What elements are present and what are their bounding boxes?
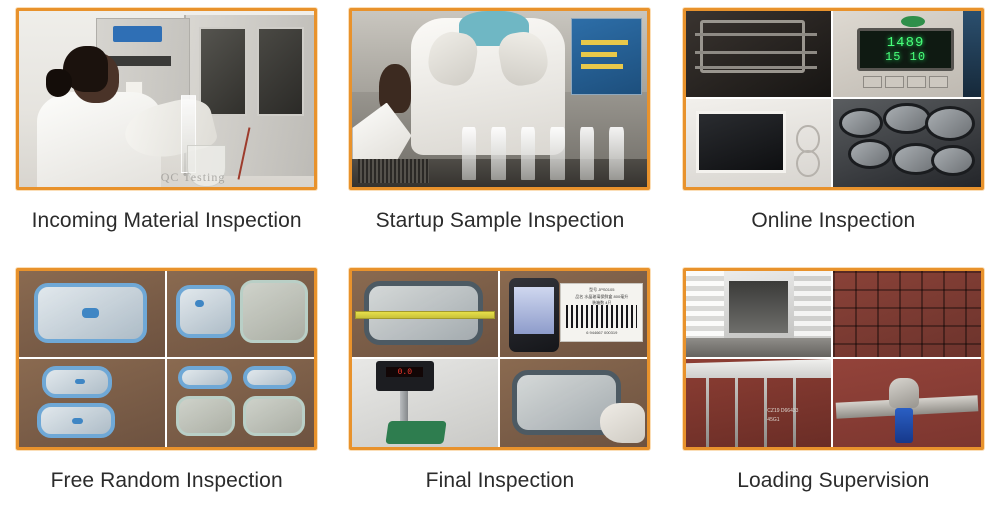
controller-button[interactable] [863,76,882,88]
hand-icon [600,403,644,443]
photo-startup-sample [352,11,647,187]
photo-frame[interactable] [349,8,650,190]
gallery-cell-incoming-material-inspection[interactable]: QC Testing Incoming Material Inspection [0,0,333,260]
gallery-cell-startup-sample-inspection[interactable]: Startup Sample Inspection [333,0,666,260]
photo-frame[interactable]: 1489 15 10 [683,8,984,190]
container-depth-icon [729,281,787,333]
cell-caption: Free Random Inspection [51,470,283,491]
security-seal-icon [895,408,913,443]
gallery-cell-loading-supervision[interactable]: CZ19 D66433 45G1 Loading Supervision [667,260,1000,520]
fridge-panel-icon [113,26,161,42]
cell-caption: Incoming Material Inspection [32,210,302,231]
machine-edge-icon [963,11,981,97]
lid-clip-icon [72,418,83,425]
controller-display: 1489 15 10 [857,28,954,71]
glass-lid-icon [848,139,892,169]
photo-container-exterior: CZ19 D66433 45G1 [686,359,834,447]
photo-two-stacked-containers [19,359,167,447]
label-line-1: 型号 JPS0105 [561,287,642,293]
photo-container-handling [500,359,648,447]
product-label: 型号 JPS0105 品名 水晶玻璃保鲜盒 800毫升 装箱数 4只 6 944… [560,283,643,341]
controller-button[interactable] [885,76,904,88]
glass-bowl-icon [176,396,235,436]
glass-lid-icon [931,145,975,177]
label-line-2: 品名 水晶玻璃保鲜盒 800毫升 [561,294,642,300]
cell-caption: Final Inspection [426,470,575,491]
photo-frame[interactable]: 型号 JPS0105 品名 水晶玻璃保鲜盒 800毫升 装箱数 4只 6 944… [349,268,650,450]
gallery-cell-final-inspection[interactable]: 型号 JPS0105 品名 水晶玻璃保鲜盒 800毫升 装箱数 4只 6 944… [333,260,666,520]
display-line-1: 1489 [887,36,925,51]
cell-caption: Online Inspection [751,210,915,231]
photo-digital-controller: 1489 15 10 [833,11,981,99]
glass-bottle-icon [550,127,565,180]
scale-head-icon: 0.0 [376,361,434,391]
container-lid-icon [34,283,147,343]
scale-plate-icon [386,421,447,444]
controller-buttons[interactable] [863,76,949,88]
cell-caption: Startup Sample Inspection [376,210,625,231]
photo-single-lid-closeup [19,271,167,359]
oven-rack-bar-icon [695,33,817,36]
photo-watermark: QC Testing [161,170,226,185]
photo-lid-and-glass-bowl [167,271,315,359]
lid-clip-icon [75,379,85,384]
photo-oven-rack [686,11,834,99]
barcode-number: 6 944667 000319 [561,330,642,335]
glass-bowl-icon [243,396,305,436]
container-rib-icon [706,378,709,447]
container-code-line-1: CZ19 D66433 [767,408,798,414]
oven-rack-bar-icon [695,51,817,54]
photo-frame[interactable]: CZ19 D66433 45G1 [683,268,984,450]
microwave-knob-icon [796,125,819,152]
photo-empty-container-interior [686,271,834,359]
controller-button[interactable] [907,76,926,88]
container-floor-icon [686,338,832,357]
glass-lid-icon [883,103,930,135]
scale-display: 0.0 [386,367,423,377]
glass-bowl-icon [240,280,308,344]
photo-barcode-scan: 型号 JPS0105 品名 水晶玻璃保鲜盒 800毫升 装箱数 4只 6 944… [500,271,648,359]
photo-glass-lids [833,99,981,187]
photo-four-container-set [167,359,315,447]
photo-frame[interactable]: QC Testing [16,8,317,190]
microwave-door-icon [696,111,786,173]
tape-measure-icon [355,311,495,320]
glass-bottle-icon [462,127,477,180]
photo-lab-technician: QC Testing [19,11,314,187]
photo-tape-measure-check [352,271,500,359]
glass-lid-icon [839,108,883,138]
container-lid-icon [42,366,112,398]
cell-caption: Loading Supervision [737,470,929,491]
photo-stacked-cartons [833,271,981,359]
container-code-line-2: 45G1 [767,417,779,423]
controller-button[interactable] [929,76,948,88]
glass-lid-icon [925,106,975,141]
barcode-scanner-icon [509,278,559,352]
photo-frame[interactable] [16,268,317,450]
display-line-2: 15 10 [885,51,926,64]
lid-clip-icon [82,308,99,318]
lid-clip-icon [195,300,204,307]
oven-rack-icon [700,20,805,73]
gallery-cell-online-inspection[interactable]: 1489 15 10 [667,0,1000,260]
container-lid-icon [178,366,231,389]
lock-icon [889,378,919,408]
inspection-gallery: QC Testing Incoming Material Inspection [0,0,1000,520]
oven-rack-bar-icon [695,66,817,69]
glass-bottle-icon [491,127,506,180]
container-lid-icon [243,366,296,389]
gallery-cell-free-random-inspection[interactable]: Free Random Inspection [0,260,333,520]
container-rib-icon [735,378,738,447]
scale-pole-icon [400,389,407,424]
brush-icon [358,159,429,184]
container-lid-icon [176,285,235,338]
glass-bottle-icon [580,127,595,180]
scanner-screen-icon [514,287,554,334]
photo-microwave-oven [686,99,834,187]
wall-poster-icon [571,18,642,95]
container-lid-icon [37,403,116,438]
photo-weighing-scale: 0.0 [352,359,500,447]
photo-container-seal-lock [833,359,981,447]
container-roof-icon [686,359,832,378]
brand-logo-icon [901,16,925,27]
carton-stack-icon [833,271,981,357]
barcode-icon [566,305,637,328]
microwave-knob-icon [796,150,819,177]
glass-bottle-icon [521,127,536,180]
glass-bottle-icon [609,127,624,180]
